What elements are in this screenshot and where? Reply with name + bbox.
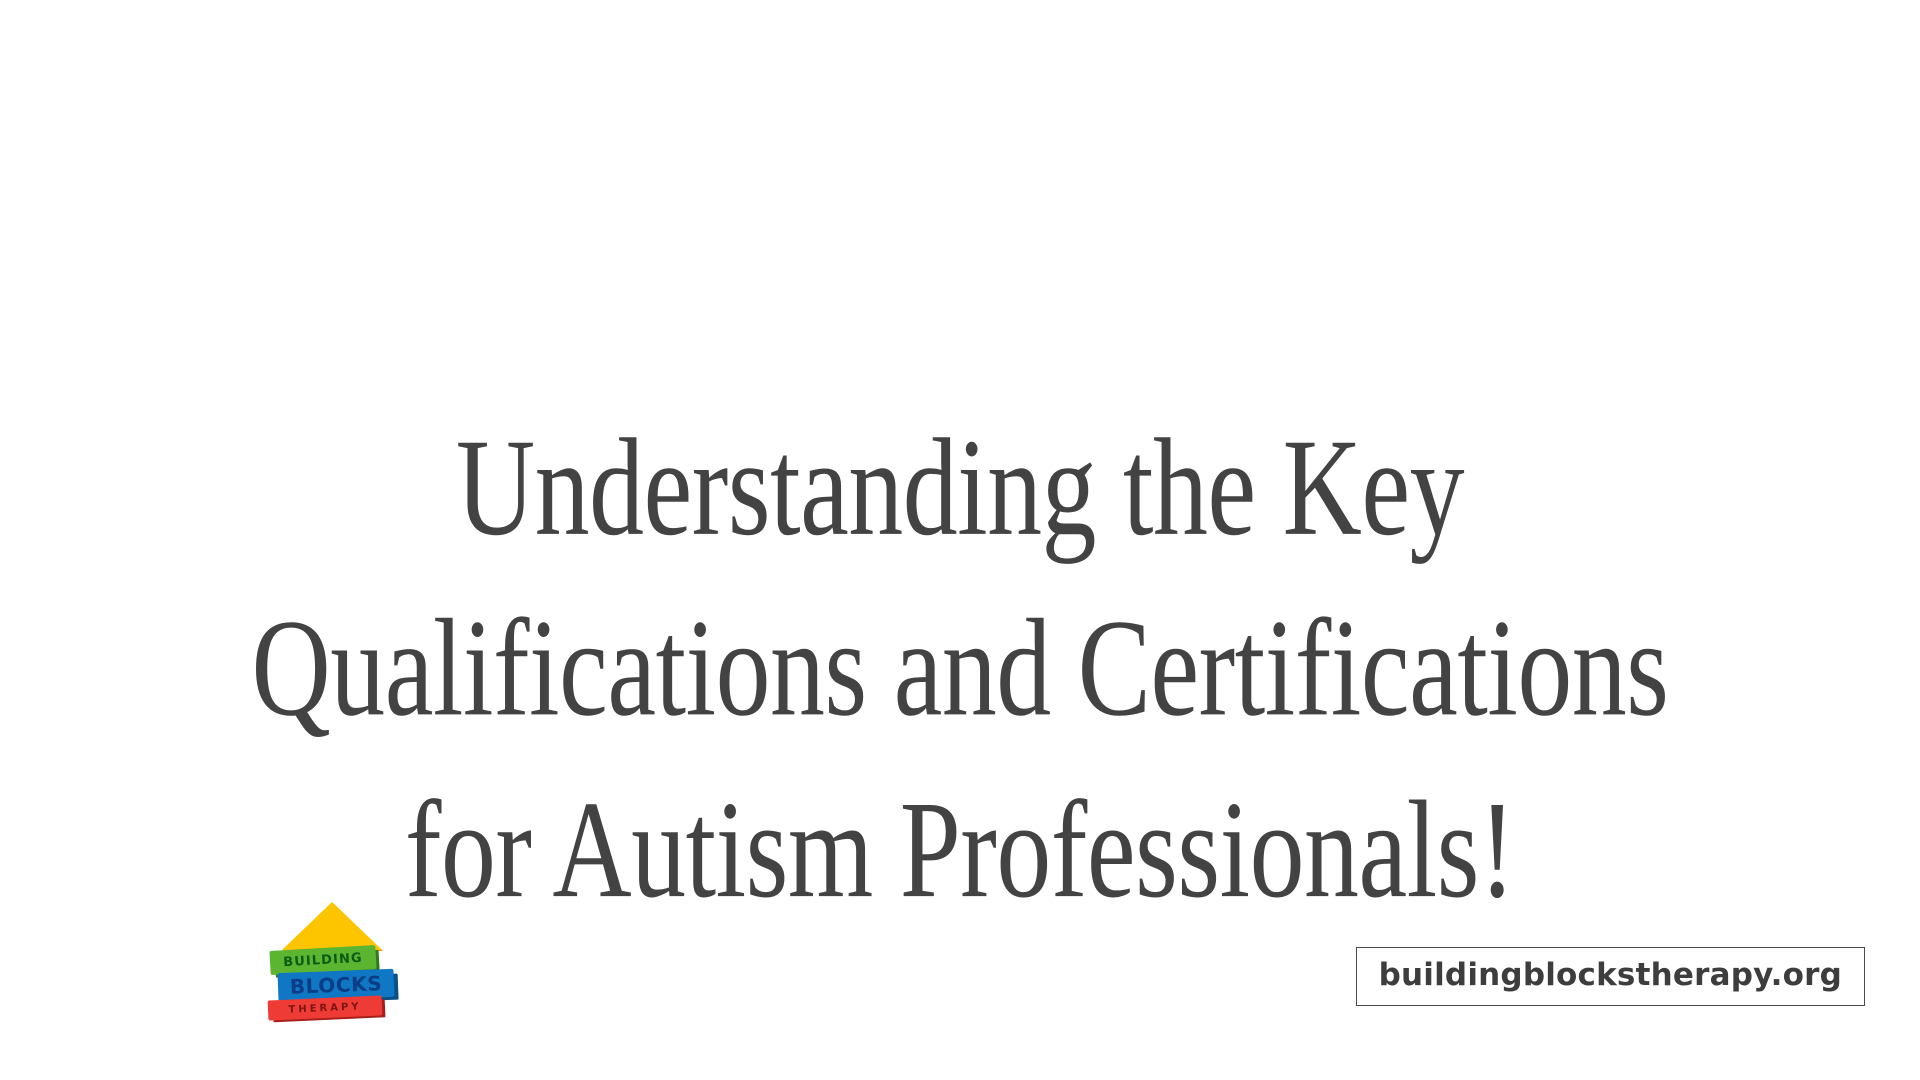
building-blocks-therapy-logo[interactable]: BUILDING BLOCKS THERAPY — [268, 902, 404, 1026]
website-url-badge[interactable]: buildingblockstherapy.org — [1356, 947, 1865, 1006]
logo-brick-therapy: THERAPY — [268, 995, 383, 1020]
headline-line-3: for Autism Professionals! — [235, 759, 1686, 940]
headline-line-2: Qualifications and Certifications — [235, 578, 1686, 759]
website-url-text: buildingblockstherapy.org — [1379, 957, 1842, 993]
logo-roof-triangle-icon — [282, 902, 382, 950]
page-title: Understanding the Key Qualifications and… — [235, 397, 1686, 940]
logo-brick-building-label: BUILDING — [283, 950, 363, 969]
title-slide: Understanding the Key Qualifications and… — [0, 0, 1920, 1080]
logo-brick-therapy-label: THERAPY — [288, 1001, 361, 1015]
logo-brick-blocks-label: BLOCKS — [289, 971, 382, 999]
headline-line-1: Understanding the Key — [235, 397, 1686, 578]
